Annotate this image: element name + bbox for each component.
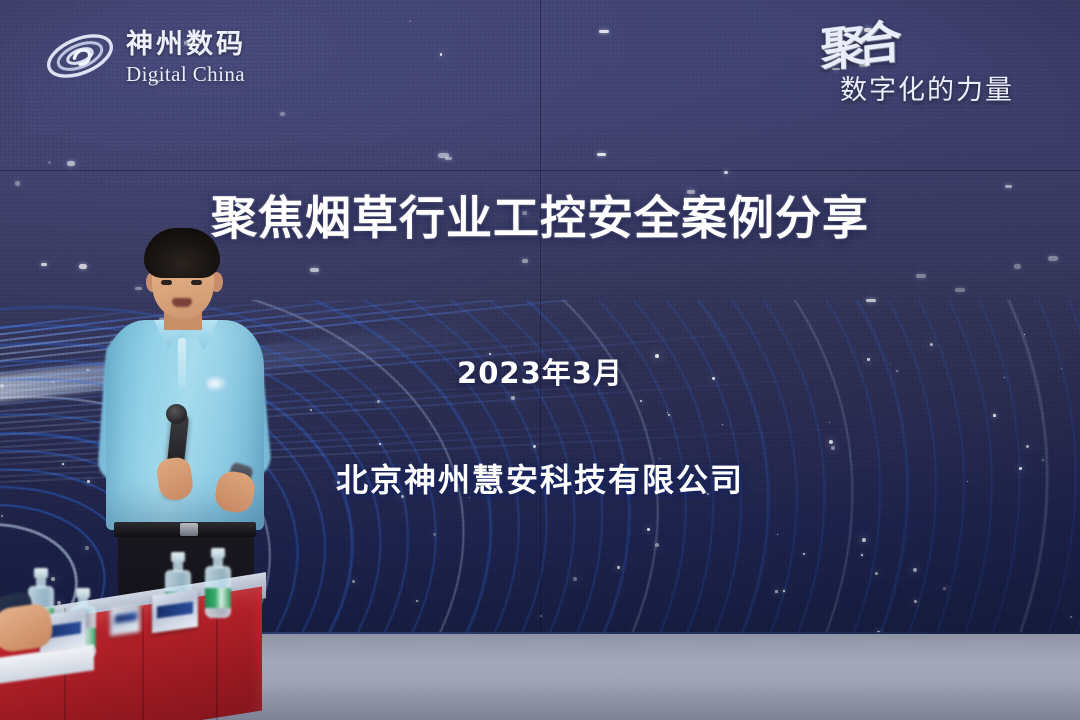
foreground-attendee <box>0 596 84 686</box>
attendee-hand <box>0 602 55 654</box>
name-card <box>110 604 140 636</box>
table-skirt-fold <box>216 608 218 720</box>
digital-china-logo: 神州数码 Digital China <box>44 16 274 96</box>
presenter-eye-right <box>191 280 202 285</box>
conference-stage-photo: 神州数码 Digital China 聚合 数字化的力量 聚焦烟草行业工控安全案… <box>0 0 1080 720</box>
presenter-mouth <box>172 298 192 307</box>
presenter-hair <box>144 228 220 278</box>
presenter-placket <box>178 338 186 388</box>
digital-china-name-en: Digital China <box>126 64 246 85</box>
water-bottle <box>205 548 231 618</box>
name-card <box>152 589 198 633</box>
swirl-galaxy-mark-icon <box>44 23 116 89</box>
juhe-event-logo: 聚合 数字化的力量 <box>798 8 1058 118</box>
table-skirt-fold <box>142 608 144 720</box>
juhe-tagline: 数字化的力量 <box>840 68 1014 107</box>
panel-seam <box>0 170 1080 171</box>
presenter-belt-buckle <box>180 523 198 536</box>
digital-china-name-cn: 神州数码 <box>126 31 246 58</box>
presenter-eye-left <box>161 280 172 285</box>
presenter-chest-badge <box>206 376 228 391</box>
